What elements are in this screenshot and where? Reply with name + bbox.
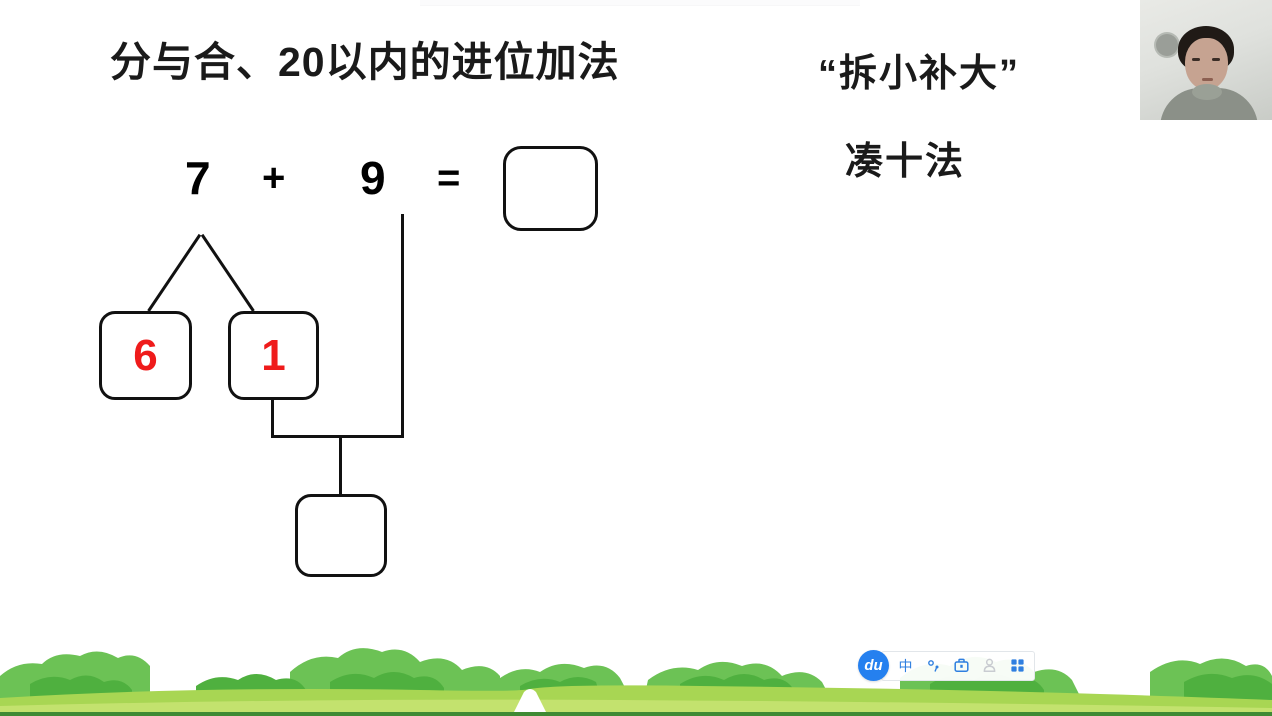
grass-scenery-decoration (0, 620, 1272, 716)
connector-to-make-ten-box (339, 435, 342, 495)
grass-notch (512, 689, 548, 716)
connector-horizontal-join (271, 435, 404, 438)
equation-plus-sign: + (262, 158, 285, 198)
phrase-method: 凑十法 (845, 130, 965, 185)
split-branch-left (147, 234, 201, 312)
sum-answer-box[interactable] (503, 146, 598, 231)
presenter-eye-right (1212, 58, 1220, 61)
ground-strip (0, 712, 1272, 716)
baidu-ime-logo-icon[interactable]: du (858, 650, 889, 681)
grass-field-highlight (0, 700, 1272, 716)
presenter-webcam-pip[interactable] (1140, 0, 1272, 120)
ime-punctuation-icon[interactable] (924, 656, 943, 675)
decomposition-part-right[interactable]: 1 (228, 311, 319, 400)
equation-addend-first: 7 (185, 155, 211, 201)
decomposition-part-left[interactable]: 6 (99, 311, 192, 400)
make-ten-answer-box[interactable] (295, 494, 387, 577)
bush-cluster-front (30, 672, 1272, 716)
ime-button-tray: 中 (881, 651, 1035, 681)
connector-from-addend-second (401, 214, 404, 438)
ime-apps-grid-icon[interactable] (1008, 656, 1027, 675)
phrase-quoted: “拆小补大” (818, 42, 1020, 97)
window-chrome-strip (420, 0, 860, 6)
ime-toolbox-icon[interactable] (952, 656, 971, 675)
bush-cluster-back (0, 648, 1272, 716)
wall-clock-icon (1156, 34, 1178, 56)
ime-user-icon[interactable] (980, 656, 999, 675)
slide-canvas: 分与合、20以内的进位加法 “拆小补大” 凑十法 7 + 9 = 6 1 (0, 0, 1272, 716)
equation-addend-second: 9 (360, 155, 386, 201)
connector-from-part-right (271, 400, 274, 438)
ime-language-mode-button[interactable]: 中 (896, 656, 915, 675)
page-title: 分与合、20以内的进位加法 (110, 38, 620, 87)
presenter-face (1185, 38, 1228, 90)
grass-field (0, 685, 1272, 716)
baidu-ime-toolbar[interactable]: du 中 (858, 650, 1035, 681)
presenter-mouth (1202, 78, 1213, 81)
equation-equals-sign: = (437, 158, 460, 198)
presenter-eye-left (1192, 58, 1200, 61)
presenter-collar (1192, 84, 1222, 100)
split-branch-right (201, 234, 255, 312)
